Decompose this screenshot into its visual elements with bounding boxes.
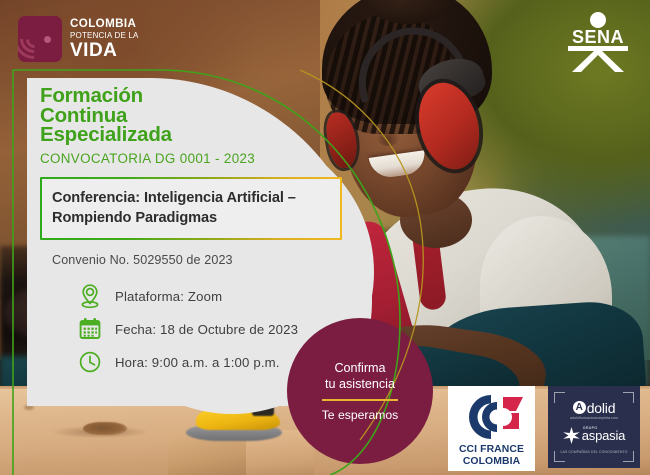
adolid-logo-inner: A dolid adolidformacioncompleta.com GRUP… bbox=[552, 390, 636, 464]
cci-logo-text: CCI FRANCE COLOMBIA bbox=[453, 444, 530, 467]
photo-wood-knot bbox=[83, 422, 127, 435]
cci-logo-line1: CCI FRANCE bbox=[453, 444, 530, 456]
detail-text-platform: Plataforma: Zoom bbox=[115, 289, 222, 304]
colombia-logo-line2: POTENCIA DE LA bbox=[70, 32, 139, 40]
aspasia-wordmark: GRUPO aspasia bbox=[563, 427, 625, 444]
sena-figure-icon bbox=[568, 44, 628, 72]
convocatoria-label: CONVOCATORIA DG 0001 - 2023 bbox=[40, 151, 365, 166]
callout-divider bbox=[322, 399, 398, 401]
adolid-corner-tl bbox=[554, 392, 565, 403]
calendar-icon bbox=[78, 316, 102, 342]
cci-france-colombia-logo: CCI FRANCE COLOMBIA bbox=[448, 386, 535, 471]
callout-line1: Confirma bbox=[325, 360, 395, 376]
aspasia-tagline: LAS COMPAÑÍAS DEL CONOCIMIENTO bbox=[561, 450, 628, 454]
adolid-brand-name: dolid bbox=[587, 401, 616, 415]
sena-head-icon bbox=[590, 12, 606, 28]
callout-line3: Te esperamos bbox=[322, 408, 399, 422]
colombia-logo-line1: COLOMBIA bbox=[70, 18, 139, 30]
colombia-logo-text: COLOMBIA POTENCIA DE LA VIDA bbox=[70, 18, 139, 60]
photo-wood-knot-small bbox=[24, 405, 34, 410]
callout-line2: tu asistencia bbox=[325, 376, 395, 392]
colombia-badge-icon bbox=[18, 16, 62, 62]
callout-top: Confirma tu asistencia bbox=[325, 360, 395, 392]
headline-line3: Especializada bbox=[40, 125, 365, 145]
adolid-wordmark: A dolid bbox=[573, 401, 616, 415]
adolid-corner-br bbox=[623, 451, 634, 462]
adolid-brand-sub: adolidformacioncompleta.com bbox=[570, 416, 618, 420]
cci-mark-icon bbox=[453, 391, 530, 443]
detail-row-platform: Plataforma: Zoom bbox=[78, 280, 365, 313]
aspasia-group-label: GRUPO bbox=[583, 426, 598, 430]
headline: Formación Continua Especializada bbox=[40, 86, 365, 145]
detail-text-time: Hora: 9:00 a.m. a 1:00 p.m. bbox=[115, 355, 280, 370]
location-pin-icon bbox=[78, 283, 102, 309]
aspasia-group-name: aspasia bbox=[582, 429, 625, 442]
sena-logo: SENA bbox=[560, 10, 636, 72]
event-flyer: COLOMBIA POTENCIA DE LA VIDA SENA Formac… bbox=[0, 0, 650, 475]
colombia-logo-line3: VIDA bbox=[70, 41, 139, 60]
adolid-corner-bl bbox=[554, 451, 565, 462]
photo-saw-handle bbox=[252, 404, 274, 416]
adolid-corner-tr bbox=[623, 392, 634, 403]
colombia-badge-dot bbox=[44, 36, 51, 43]
headline-line1: Formación bbox=[40, 86, 365, 106]
adolid-aspasia-logo: A dolid adolidformacioncompleta.com GRUP… bbox=[548, 386, 640, 468]
detail-text-date: Fecha: 18 de Octubre de 2023 bbox=[115, 322, 298, 337]
callout-text: Confirma tu asistencia Te esperamos bbox=[287, 318, 433, 464]
conference-title-line2: Rompiendo Paradigmas bbox=[52, 208, 330, 228]
adolid-initial-icon: A bbox=[573, 401, 586, 414]
clock-icon bbox=[78, 349, 102, 375]
colombia-potencia-de-la-vida-logo: COLOMBIA POTENCIA DE LA VIDA bbox=[18, 14, 148, 64]
conference-title-box: Conferencia: Inteligencia Artificial – R… bbox=[40, 177, 342, 240]
conference-title-line1: Conferencia: Inteligencia Artificial – bbox=[52, 188, 330, 208]
cci-logo-line2: COLOMBIA bbox=[453, 456, 530, 468]
convenio-label: Convenio No. 5029550 de 2023 bbox=[52, 253, 365, 267]
aspasia-star-icon: GRUPO bbox=[563, 427, 580, 444]
